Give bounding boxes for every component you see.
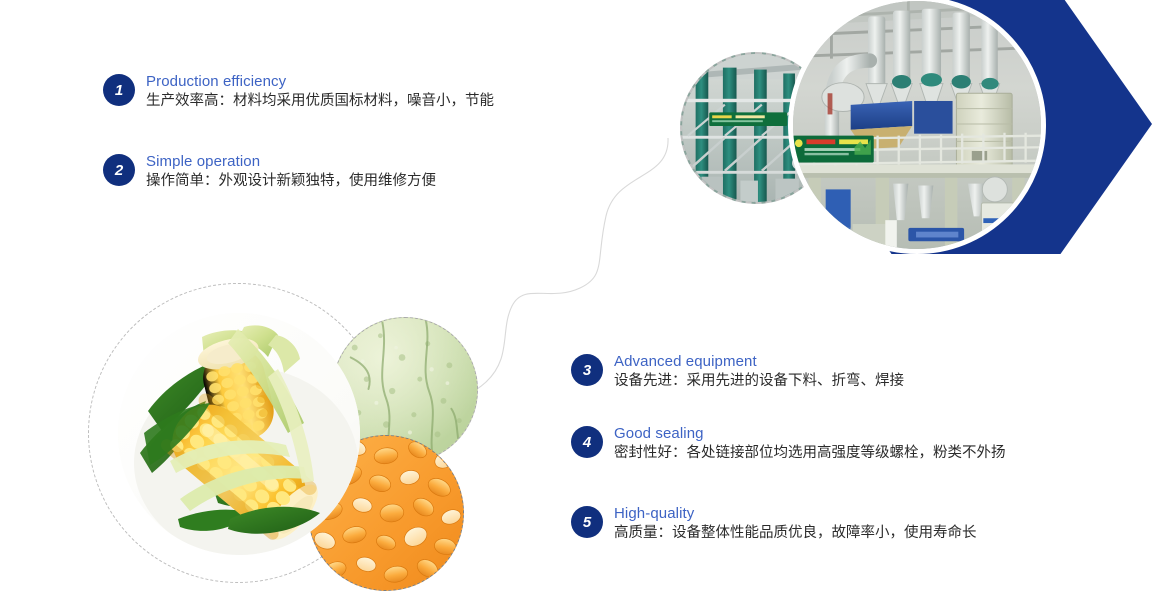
feature-item-4[interactable]: 4 Good sealing 密封性好：各处链接部位均选用高强度等级螺栓，粉类不… — [571, 424, 1006, 464]
feature-text-1: Production efficiency 生产效率高：材料均采用优质国标材料，… — [146, 72, 494, 112]
feature-description-5: 高质量：设备整体性能品质优良，故障率小，使用寿命长 — [614, 523, 977, 544]
feature-showcase-page: 1 Production efficiency 生产效率高：材料均采用优质国标材… — [0, 0, 1154, 591]
feature-text-3: Advanced equipment 设备先进：采用先进的设备下料、折弯、焊接 — [614, 352, 904, 392]
feature-description-3: 设备先进：采用先进的设备下料、折弯、焊接 — [614, 371, 904, 392]
feature-number-badge-1: 1 — [103, 74, 135, 106]
fresh-corn-cob-photo — [118, 313, 360, 555]
corn-photo-group — [88, 283, 488, 591]
feature-text-5: High-quality 高质量：设备整体性能品质优良，故障率小，使用寿命长 — [614, 504, 977, 544]
feature-number-badge-2: 2 — [103, 154, 135, 186]
mill-photo-group — [664, 0, 1154, 284]
feature-number-badge-3: 3 — [571, 354, 603, 386]
feature-description-1: 生产效率高：材料均采用优质国标材料，噪音小，节能 — [146, 91, 494, 112]
feature-number-badge-4: 4 — [571, 426, 603, 458]
feature-heading-5: High-quality — [614, 504, 977, 523]
feature-heading-2: Simple operation — [146, 152, 436, 171]
feature-text-4: Good sealing 密封性好：各处链接部位均选用高强度等级螺栓，粉类不外扬 — [614, 424, 1006, 464]
feature-number-badge-5: 5 — [571, 506, 603, 538]
feature-item-3[interactable]: 3 Advanced equipment 设备先进：采用先进的设备下料、折弯、焊… — [571, 352, 904, 392]
feature-description-2: 操作简单：外观设计新颖独特，使用维修方便 — [146, 171, 436, 192]
flour-mill-factory-photo — [788, 0, 1046, 254]
feature-item-2[interactable]: 2 Simple operation 操作简单：外观设计新颖独特，使用维修方便 — [103, 152, 436, 192]
feature-heading-4: Good sealing — [614, 424, 1006, 443]
feature-heading-1: Production efficiency — [146, 72, 494, 91]
feature-description-4: 密封性好：各处链接部位均选用高强度等级螺栓，粉类不外扬 — [614, 443, 1006, 464]
feature-text-2: Simple operation 操作简单：外观设计新颖独特，使用维修方便 — [146, 152, 436, 192]
feature-item-5[interactable]: 5 High-quality 高质量：设备整体性能品质优良，故障率小，使用寿命长 — [571, 504, 977, 544]
feature-heading-3: Advanced equipment — [614, 352, 904, 371]
feature-item-1[interactable]: 1 Production efficiency 生产效率高：材料均采用优质国标材… — [103, 72, 494, 112]
